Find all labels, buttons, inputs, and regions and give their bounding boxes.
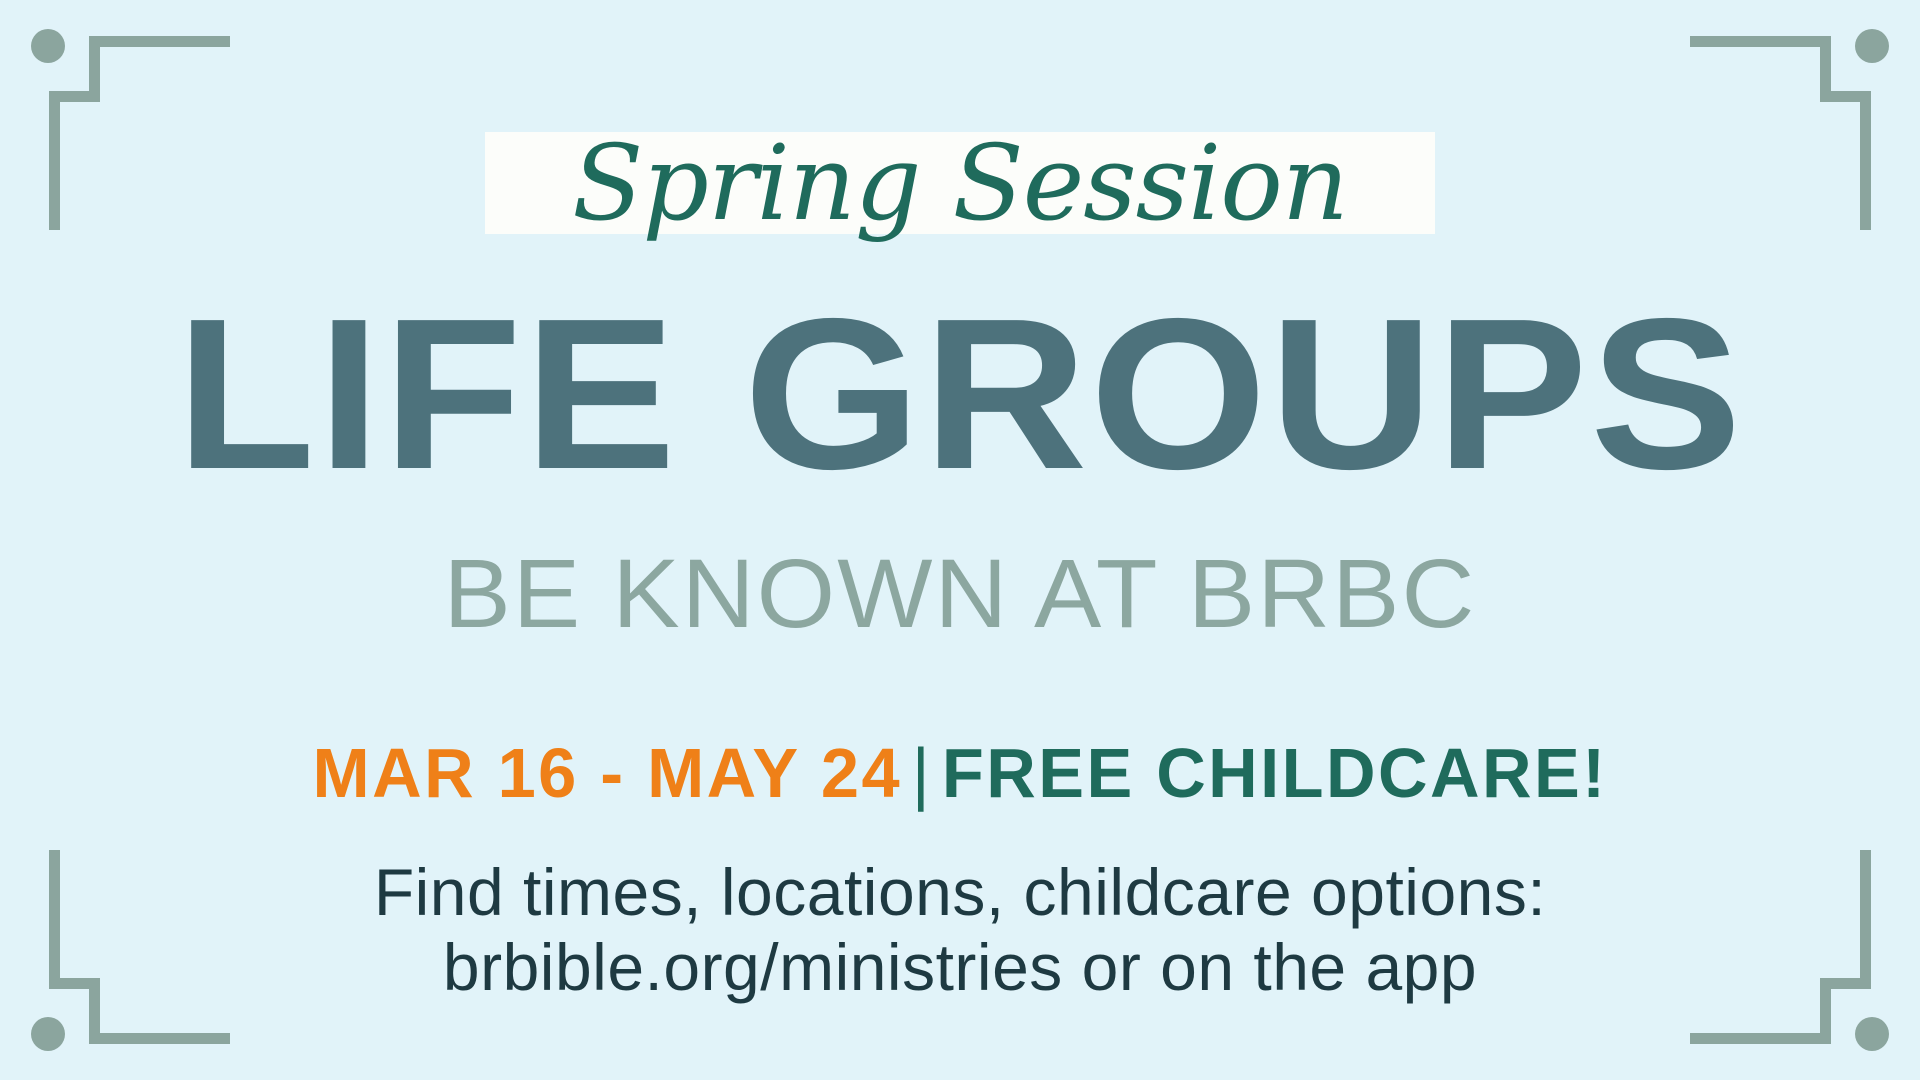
page-title: LIFE GROUPS [0,286,1920,501]
dateline-separator: | [902,734,942,812]
footer-line-2: brbible.org/ministries or on the app [0,930,1920,1005]
footer-info: Find times, locations, childcare options… [0,855,1920,1004]
poster-canvas: Spring Session LIFE GROUPS BE KNOWN AT B… [0,0,1920,1080]
childcare-badge: FREE CHILDCARE! [942,734,1608,812]
footer-line-1: Find times, locations, childcare options… [0,855,1920,930]
page-subtitle: BE KNOWN AT BRBC [0,545,1920,642]
session-dates: MAR 16 - MAY 24 [312,734,902,812]
season-banner: Spring Session [0,132,1920,234]
season-label: Spring Session [360,131,1560,235]
dateline: MAR 16 - MAY 24|FREE CHILDCARE! [19,738,1901,808]
